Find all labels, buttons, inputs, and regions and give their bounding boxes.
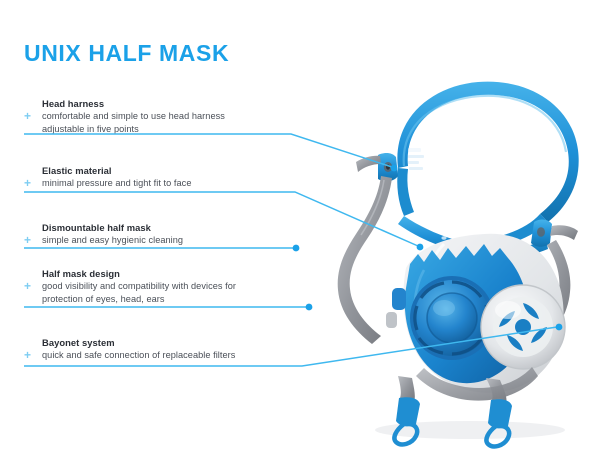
endpoint-dot-3 — [293, 245, 300, 252]
connector-line-2 — [24, 192, 418, 246]
endpoint-dot-4 — [306, 304, 313, 311]
connector-line-5 — [24, 327, 557, 366]
endpoint-dot-5 — [556, 324, 563, 331]
connector-lines — [0, 0, 600, 450]
connector-line-1 — [24, 134, 392, 167]
endpoint-dot-1 — [391, 165, 398, 172]
endpoint-dot-2 — [417, 244, 424, 251]
connector-endpoint-dots — [293, 165, 563, 331]
infographic-page: UNIX HALF MASK — [0, 0, 600, 450]
